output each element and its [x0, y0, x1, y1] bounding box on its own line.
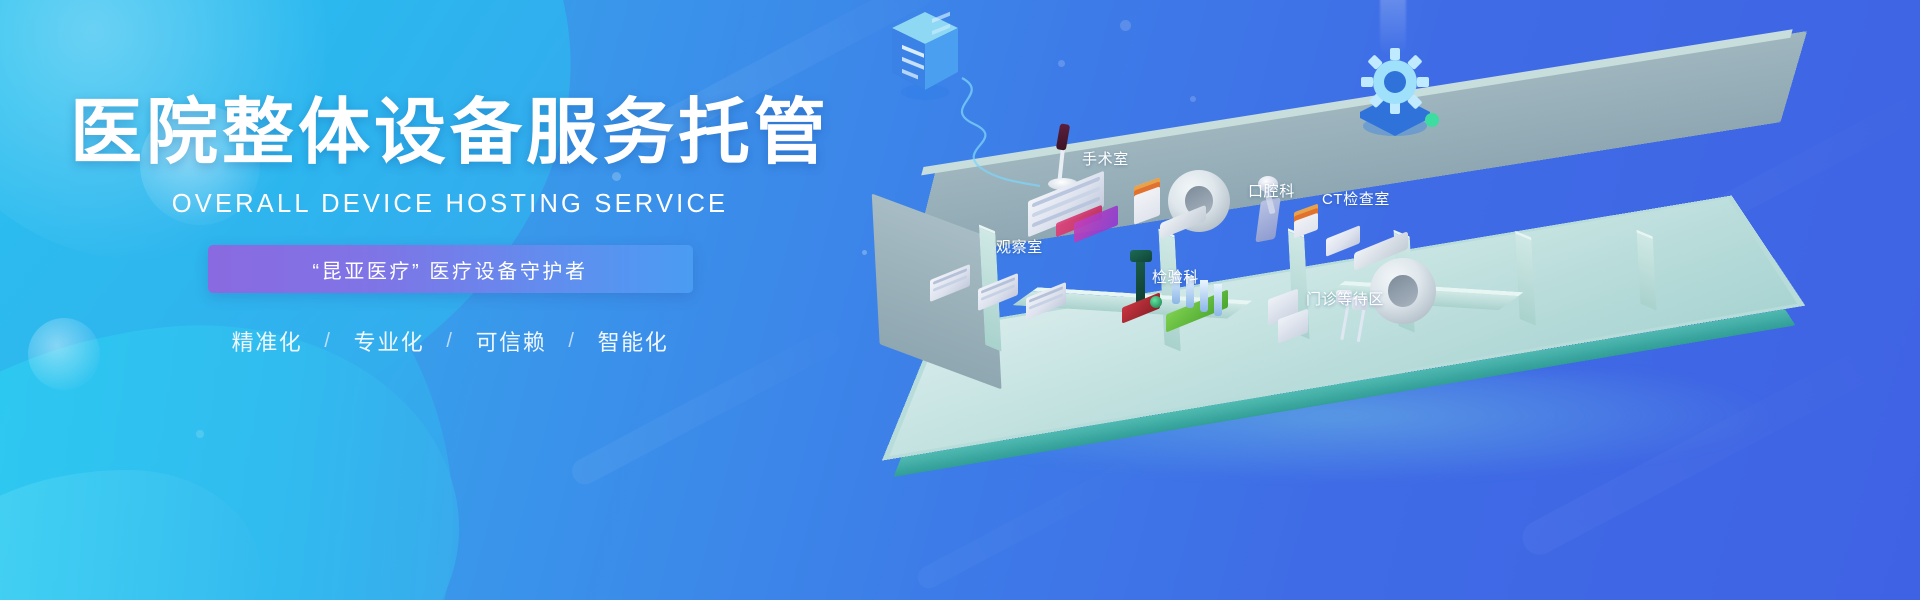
room-label-dental-department: 口腔科: [1248, 180, 1295, 201]
feature-keyword-list: 精准化 / 专业化 / 可信赖 / 智能化: [232, 325, 669, 357]
feature-keyword-2: 专业化: [354, 325, 425, 357]
page-title: 医院整体设备服务托管: [70, 96, 830, 168]
feature-keyword-1: 精准化: [232, 325, 303, 357]
feature-keyword-3: 可信赖: [476, 325, 547, 357]
room-label-ct-exam-room: CT检查室: [1322, 188, 1390, 209]
room-label-outpatient-waiting-area: 门诊等待区: [1306, 288, 1384, 309]
slogan-badge: “昆亚医疗” 医疗设备守护者: [208, 245, 693, 293]
lab-flask-green: [1150, 296, 1162, 308]
hospital-floorplan-illustration: 手术室 观察室 检验科 口腔科 CT检查室 门诊等待区: [860, 0, 1920, 600]
feature-keyword-4: 智能化: [598, 325, 669, 357]
slogan-badge-label: “昆亚医疗” 医疗设备守护者: [312, 255, 587, 284]
room-label-observation-room: 观察室: [996, 236, 1043, 257]
hospital-service-hero-banner: 医院整体设备服务托管 OVERALL DEVICE HOSTING SERVIC…: [0, 0, 1920, 600]
room-label-laboratory: 检验科: [1152, 266, 1199, 287]
gear-settings-icon: [1340, 42, 1450, 142]
microscope-column: [1136, 256, 1145, 304]
test-tube: [1200, 280, 1208, 312]
room-label-operating-room: 手术室: [1082, 148, 1129, 169]
feature-separator: /: [424, 330, 475, 353]
feature-separator: /: [546, 330, 597, 353]
test-tube: [1214, 284, 1222, 316]
hero-text-block: 医院整体设备服务托管 OVERALL DEVICE HOSTING SERVIC…: [0, 0, 900, 600]
microscope-head: [1130, 250, 1152, 262]
feature-separator: /: [302, 330, 353, 353]
subtitle-english: OVERALL DEVICE HOSTING SERVICE: [172, 190, 729, 219]
